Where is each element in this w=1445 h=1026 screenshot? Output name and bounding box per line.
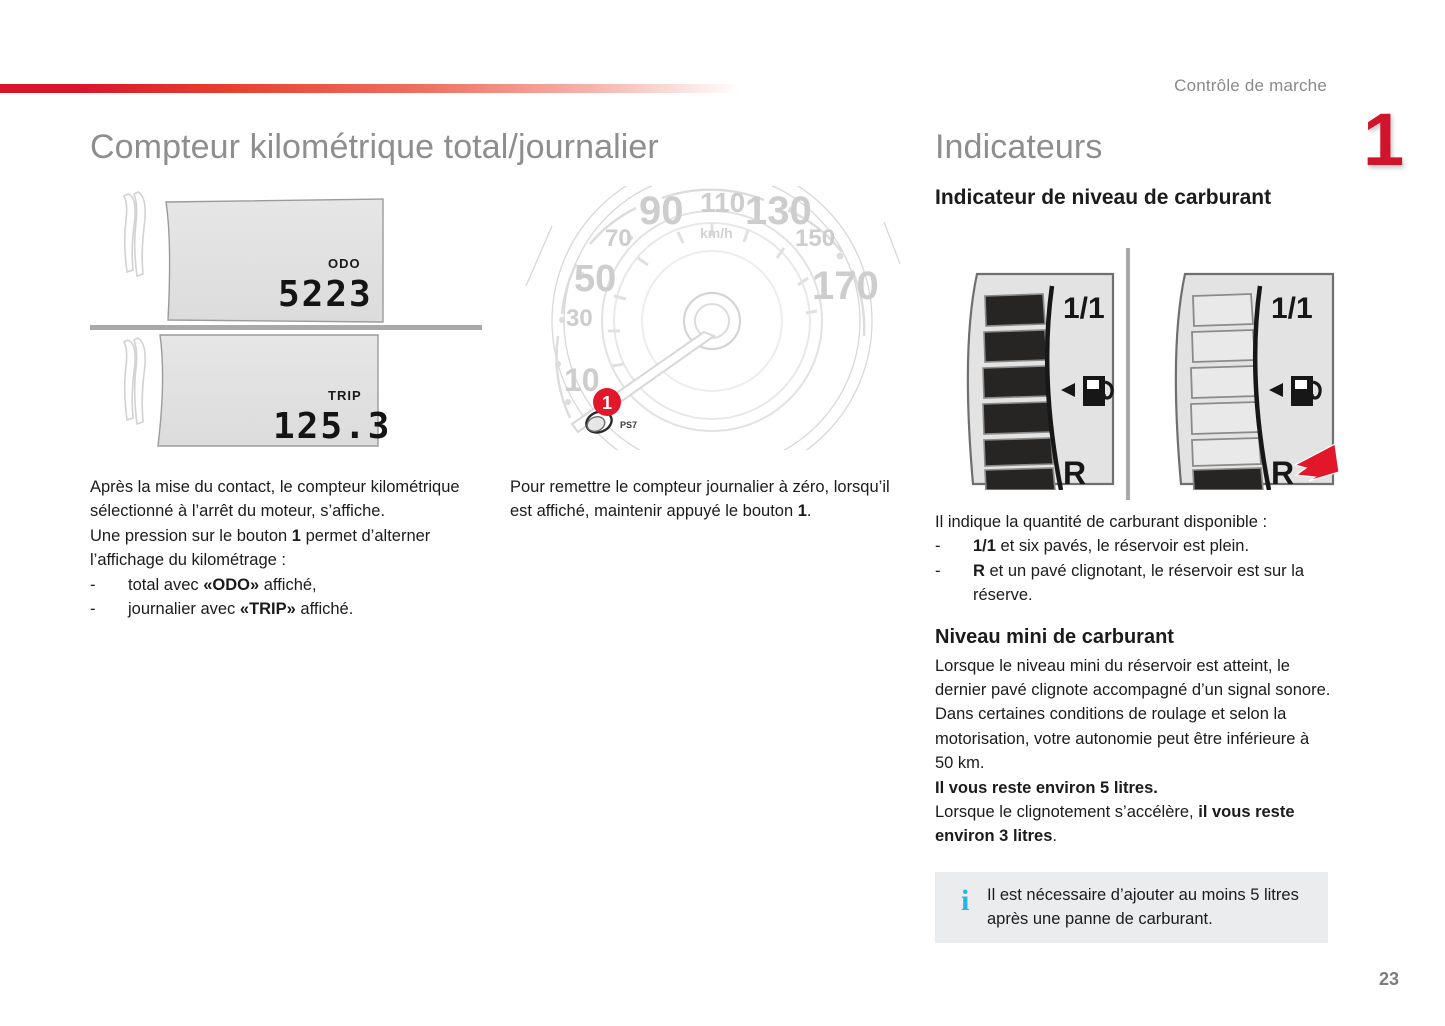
running-head: Contrôle de marche	[1174, 76, 1327, 96]
bullet-dash: -	[935, 559, 973, 608]
fuel-segments	[983, 294, 1055, 490]
bullet-text: total avec «ODO» affiché,	[128, 573, 485, 597]
fuel-reserve-label: R	[1063, 455, 1086, 490]
scale-110: 110	[700, 187, 745, 218]
bullet-post: et six pavés, le réservoir est plein.	[996, 537, 1249, 555]
odo-label: ODO	[328, 256, 361, 271]
info-callout-text: Il est nécessaire d’ajouter au moins 5 l…	[987, 884, 1317, 932]
odo-lcd-panel: ODO 5223	[124, 192, 383, 322]
left-bullet-1: - journalier avec «TRIP» affiché.	[90, 597, 485, 621]
right-intro: Il indique la quantité de carburant disp…	[935, 510, 1331, 534]
bullet-bold: 1/1	[973, 537, 996, 555]
fuel-gauge-reserve-figure: 1/1 R	[1163, 268, 1343, 490]
lp2-pre: Une pression sur le bouton	[90, 527, 292, 545]
trip-value: 125.3	[273, 406, 391, 447]
middle-body-text: Pour remettre le compteur journalier à z…	[510, 475, 905, 524]
scale-150: 150	[795, 225, 835, 252]
scale-30: 30	[566, 305, 593, 332]
bullet-bold: R	[973, 562, 985, 580]
odo-value: 5223	[278, 274, 373, 315]
info-callout-box: i Il est nécessaire d’ajouter au moins 5…	[935, 872, 1328, 943]
scale-170: 170	[812, 264, 879, 308]
right-subtitle-2: Niveau mini de carburant	[935, 624, 1331, 650]
fuel-full-label: 1/1	[1271, 292, 1313, 325]
speedometer-unit-label: km/h	[700, 225, 733, 241]
left-paragraph-1: Après la mise du contact, le compteur ki…	[90, 475, 485, 524]
bullet-bold: «TRIP»	[240, 600, 296, 618]
mp1-post: .	[807, 502, 812, 520]
bullet-text: journalier avec «TRIP» affiché.	[128, 597, 485, 621]
left-column: Compteur kilométrique total/journalier	[90, 128, 485, 167]
speedometer-figure: 10 30 50 70 90 110 130 150 170 km/h PS7 …	[512, 186, 905, 450]
odometer-figures-svg: ODO 5223 TRIP 125.3	[90, 188, 485, 450]
cluster-small-marking: PS7	[620, 420, 637, 430]
rp4-post: .	[1052, 827, 1057, 845]
right-bullet-0: - 1/1 et six pavés, le réservoir est ple…	[935, 534, 1331, 558]
fuel-reserve-label: R	[1271, 455, 1294, 490]
odometer-figure-group: ODO 5223 TRIP 125.3	[90, 188, 485, 450]
bullet-pre: total avec	[128, 576, 203, 594]
right-subtitle: Indicateur de niveau de carburant	[935, 185, 1330, 212]
figure-divider	[90, 325, 482, 330]
lp2-bold: 1	[292, 527, 301, 545]
scale-70: 70	[605, 225, 632, 252]
right-paragraph-3: Il vous reste environ 5 litres.	[935, 776, 1331, 800]
chapter-number-tab: 1	[1363, 106, 1397, 178]
right-bullet-1: - R et un pavé clignotant, le réservoir …	[935, 559, 1331, 608]
page-title: Compteur kilométrique total/journalier	[90, 128, 485, 167]
right-paragraph-4: Lorsque le clignotement s’accélère, il v…	[935, 800, 1331, 849]
rp4-pre: Lorsque le clignotement s’accélère,	[935, 803, 1198, 821]
manual-page: Contrôle de marche 1 Compteur kilométriq…	[0, 0, 1445, 1026]
left-paragraph-2: Une pression sur le bouton 1 permet d’al…	[90, 524, 485, 573]
mp1-bold: 1	[798, 502, 807, 520]
right-section-title: Indicateurs	[935, 128, 1330, 167]
scale-90: 90	[639, 189, 684, 233]
fuel-full-label: 1/1	[1063, 292, 1105, 325]
left-body-text: Après la mise du contact, le compteur ki…	[90, 475, 485, 621]
scale-10: 10	[564, 362, 600, 398]
mp1-pre: Pour remettre le compteur journalier à z…	[510, 478, 890, 520]
middle-paragraph-1: Pour remettre le compteur journalier à z…	[510, 475, 905, 524]
page-number: 23	[1379, 969, 1399, 990]
bullet-pre: journalier avec	[128, 600, 240, 618]
fuel-gauge-reserve-svg: 1/1 R	[1163, 268, 1343, 490]
bullet-dash: -	[90, 573, 128, 597]
right-paragraph-1: Lorsque le niveau mini du réservoir est …	[935, 654, 1331, 703]
bullet-post: affiché.	[296, 600, 353, 618]
svg-text:1: 1	[602, 393, 612, 413]
speedometer-svg: 10 30 50 70 90 110 130 150 170 km/h PS7 …	[512, 186, 905, 450]
fuel-gauge-divider	[1126, 248, 1130, 500]
fuel-segments-empty	[1191, 294, 1261, 466]
info-icon: i	[961, 886, 969, 916]
trip-label: TRIP	[328, 388, 362, 403]
scale-50: 50	[574, 258, 616, 300]
bullet-dash: -	[90, 597, 128, 621]
bullet-dash: -	[935, 534, 973, 558]
bullet-post: et un pavé clignotant, le réservoir est …	[973, 562, 1304, 604]
left-bullet-0: - total avec «ODO» affiché,	[90, 573, 485, 597]
right-column: Indicateurs Indicateur de niveau de carb…	[935, 128, 1330, 212]
right-paragraph-2: Dans certaines conditions de roulage et …	[935, 702, 1331, 775]
fuel-gauge-full-svg: 1/1 R	[935, 268, 1115, 490]
fuel-segment-reserve-filled	[1193, 468, 1263, 490]
trip-lcd-panel: TRIP 125.3	[124, 335, 391, 447]
callout-badge-1: 1	[593, 388, 621, 416]
right-body-text: Il indique la quantité de carburant disp…	[935, 510, 1331, 849]
bullet-text: R et un pavé clignotant, le réservoir es…	[973, 559, 1331, 608]
fuel-gauge-full-figure: 1/1 R	[935, 268, 1115, 490]
bullet-post: affiché,	[259, 576, 316, 594]
bullet-text: 1/1 et six pavés, le réservoir est plein…	[973, 534, 1331, 558]
bullet-bold: «ODO»	[203, 576, 259, 594]
header-accent-rule	[0, 84, 740, 93]
